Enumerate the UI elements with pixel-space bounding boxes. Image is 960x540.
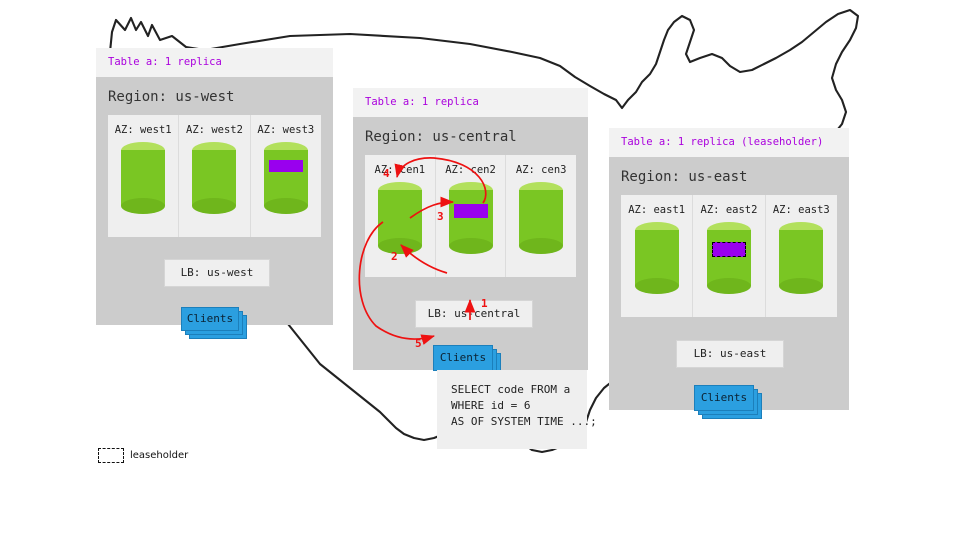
az-cell-cen1[interactable]: AZ: cen1	[365, 155, 436, 277]
az-cell-east1[interactable]: AZ: east1	[621, 195, 693, 317]
az-cell-east3[interactable]: AZ: east3	[766, 195, 837, 317]
region-panel-us-west: Table a: 1 replica Region: us-west AZ: w…	[96, 48, 333, 325]
node-cylinder-cen1[interactable]	[378, 182, 422, 254]
az-cell-west3[interactable]: AZ: west3	[251, 115, 321, 237]
flow-step-number-1: 1	[481, 297, 488, 310]
clients-stack-us-east[interactable]: Clients	[694, 385, 764, 419]
sql-query-box: SELECT code FROM a WHERE id = 6 AS OF SY…	[437, 370, 587, 449]
clients-label-us-central[interactable]: Clients	[433, 345, 493, 371]
cylinder-bottom	[449, 238, 493, 254]
replica-block-cen2[interactable]	[454, 204, 488, 218]
cylinder-bottom	[378, 238, 422, 254]
node-cylinder-cen3[interactable]	[519, 182, 563, 254]
replica-block-east2-leaseholder[interactable]	[712, 242, 746, 257]
load-balancer-us-central[interactable]: LB: us-central	[415, 300, 533, 328]
clients-label-us-east[interactable]: Clients	[694, 385, 754, 411]
node-cylinder-east2[interactable]	[707, 222, 751, 294]
region-title-us-east: Region: us-east	[609, 157, 849, 195]
az-label-cen2: AZ: cen2	[436, 155, 506, 182]
az-label-cen3: AZ: cen3	[506, 155, 576, 182]
clients-stack-us-west[interactable]: Clients	[181, 307, 247, 339]
legend-leaseholder: leaseholder	[98, 448, 188, 463]
az-label-cen1: AZ: cen1	[365, 155, 435, 182]
flow-step-number-4: 4	[383, 167, 390, 180]
cylinder-bottom	[264, 198, 308, 214]
clients-label-us-west[interactable]: Clients	[181, 307, 239, 331]
az-label-east3: AZ: east3	[766, 195, 837, 222]
region-title-us-central: Region: us-central	[353, 117, 588, 155]
node-cylinder-west2[interactable]	[192, 142, 236, 214]
flow-step-number-3: 3	[437, 210, 444, 223]
cylinder-bottom	[707, 278, 751, 294]
region-caption-us-east: Table a: 1 replica (leaseholder)	[609, 128, 849, 157]
load-balancer-us-east[interactable]: LB: us-east	[676, 340, 784, 368]
node-cylinder-east3[interactable]	[779, 222, 823, 294]
region-caption-us-west: Table a: 1 replica	[96, 48, 333, 77]
az-cell-west1[interactable]: AZ: west1	[108, 115, 179, 237]
flow-step-number-5: 5	[415, 337, 422, 350]
dashed-rectangle-icon	[98, 448, 124, 463]
az-row-us-east: AZ: east1 AZ: east2	[621, 195, 837, 317]
diagram-stage: Table a: 1 replica Region: us-west AZ: w…	[0, 0, 960, 540]
node-cylinder-cen2[interactable]	[449, 182, 493, 254]
region-title-us-west: Region: us-west	[96, 77, 333, 115]
az-cell-cen2[interactable]: AZ: cen2	[436, 155, 507, 277]
az-cell-east2[interactable]: AZ: east2	[693, 195, 765, 317]
az-label-west1: AZ: west1	[108, 115, 178, 142]
az-label-east1: AZ: east1	[621, 195, 692, 222]
az-label-east2: AZ: east2	[693, 195, 764, 222]
az-label-west3: AZ: west3	[251, 115, 321, 142]
node-cylinder-west3[interactable]	[264, 142, 308, 214]
replica-block-west3[interactable]	[269, 160, 303, 172]
az-cell-cen3[interactable]: AZ: cen3	[506, 155, 576, 277]
cylinder-bottom	[121, 198, 165, 214]
flow-step-number-2: 2	[391, 250, 398, 263]
cylinder-bottom	[779, 278, 823, 294]
region-panel-us-central: Table a: 1 replica Region: us-central AZ…	[353, 88, 588, 370]
legend-label: leaseholder	[130, 450, 188, 461]
cylinder-bottom	[519, 238, 563, 254]
region-caption-us-central: Table a: 1 replica	[353, 88, 588, 117]
cylinder-bottom	[635, 278, 679, 294]
node-cylinder-east1[interactable]	[635, 222, 679, 294]
az-label-west2: AZ: west2	[179, 115, 249, 142]
load-balancer-us-west[interactable]: LB: us-west	[164, 259, 270, 287]
az-cell-west2[interactable]: AZ: west2	[179, 115, 250, 237]
az-row-us-west: AZ: west1 AZ: west2	[108, 115, 321, 237]
cylinder-bottom	[192, 198, 236, 214]
region-panel-us-east: Table a: 1 replica (leaseholder) Region:…	[609, 128, 849, 410]
node-cylinder-west1[interactable]	[121, 142, 165, 214]
